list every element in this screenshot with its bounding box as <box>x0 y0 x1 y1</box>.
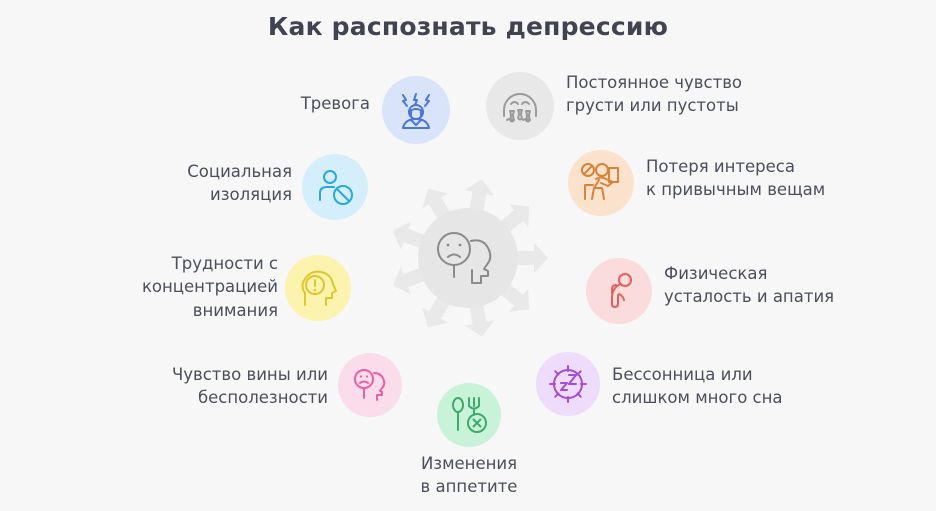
crying-face-icon <box>498 84 542 128</box>
bubble-sadness[interactable] <box>486 72 554 140</box>
label-interest: Потеря интереса к привычным вещам <box>646 155 896 202</box>
bubble-isolation[interactable] <box>302 154 368 220</box>
bubble-anxiety[interactable] <box>382 76 450 144</box>
label-isolation: Социальная изоляция <box>120 160 292 207</box>
label-insomnia: Бессонница или слишком много сна <box>612 363 842 410</box>
label-guilt: Чувство вины или бесполезности <box>120 363 328 410</box>
bubble-interest[interactable] <box>568 150 634 216</box>
head-sad-face-icon <box>350 365 390 405</box>
anxious-person-icon <box>395 89 437 131</box>
head-exclamation-icon <box>297 267 339 309</box>
central-hub <box>388 178 548 338</box>
label-sadness: Постоянное чувство грусти или пустоты <box>566 71 826 118</box>
page-title: Как распознать депрессию <box>0 12 936 41</box>
clock-sleep-icon <box>547 363 589 405</box>
bubble-fatigue[interactable] <box>586 258 652 324</box>
slouched-person-icon <box>599 271 639 311</box>
label-fatigue: Физическая усталость и апатия <box>664 262 904 309</box>
label-appetite: Изменения в аппетите <box>373 452 565 499</box>
person-blocked-icon <box>314 166 356 208</box>
label-concentration: Трудности с концентрацией внимания <box>118 252 278 322</box>
person-no-interest-icon <box>579 161 623 205</box>
bubble-concentration[interactable] <box>285 255 351 321</box>
label-anxiety: Тревога <box>236 92 370 115</box>
cutlery-blocked-icon <box>448 394 490 436</box>
bubble-insomnia[interactable] <box>536 352 600 416</box>
bubble-guilt[interactable] <box>338 353 402 417</box>
infographic-canvas: Как распознать депрессию <box>0 0 936 511</box>
bubble-appetite[interactable] <box>437 383 501 447</box>
